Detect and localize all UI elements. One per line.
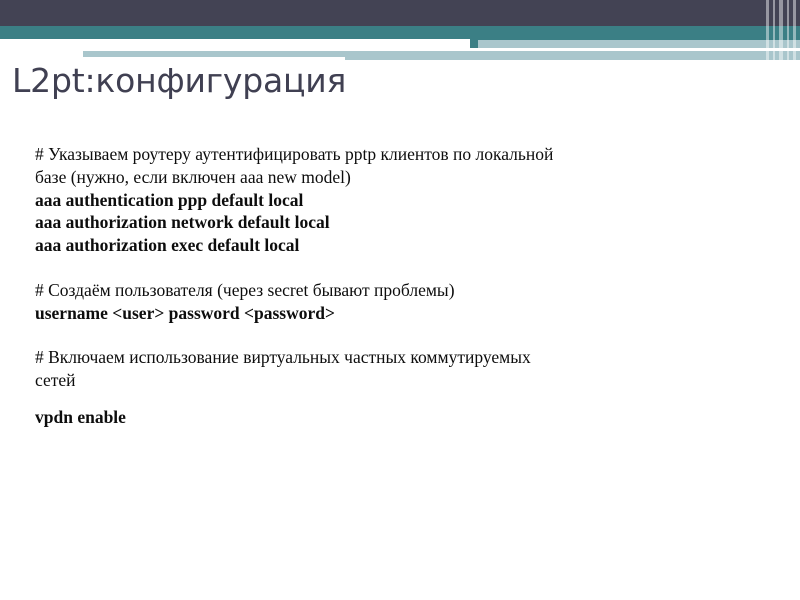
vertical-stripe: [787, 0, 789, 62]
vertical-stripe: [779, 0, 783, 62]
config-command-line: aaa authentication ppp default local: [35, 189, 735, 212]
aaa-block: # Указываем роутеру аутентифицировать pp…: [35, 143, 735, 257]
slide-body: # Указываем роутеру аутентифицировать pp…: [35, 143, 735, 429]
comment-line: базе (нужно, если включен aaa new model): [35, 166, 735, 189]
header-dark-band: [0, 0, 800, 26]
vertical-stripe: [766, 0, 769, 62]
config-command-line: aaa authorization network default local: [35, 211, 735, 234]
slide: L2pt:конфигурация # Указываем роутеру ау…: [0, 0, 800, 600]
username-block: # Создаём пользователя (через secret быв…: [35, 279, 735, 325]
page-title: L2pt:конфигурация: [12, 62, 712, 100]
block-spacer: [35, 324, 735, 346]
header-vertical-stripes: [764, 0, 800, 62]
header-accent-bar-1: [478, 40, 800, 48]
comment-line: # Создаём пользователя (через secret быв…: [35, 279, 735, 302]
block-spacer: [35, 257, 735, 279]
comment-line: # Указываем роутеру аутентифицировать pp…: [35, 143, 735, 166]
vertical-stripe: [773, 0, 775, 62]
comment-line: # Включаем использование виртуальных час…: [35, 346, 735, 369]
vpdn-block: # Включаем использование виртуальных час…: [35, 346, 735, 428]
config-command-line: vpdn enable: [35, 406, 735, 429]
vertical-stripe: [793, 0, 796, 62]
header-accent-bar-3: [83, 51, 743, 57]
config-command-line: username <user> password <password>: [35, 302, 735, 325]
text-spacer: [35, 392, 735, 406]
config-command-line: aaa authorization exec default local: [35, 234, 735, 257]
comment-line: сетей: [35, 369, 735, 392]
header-decoration: [0, 0, 800, 70]
